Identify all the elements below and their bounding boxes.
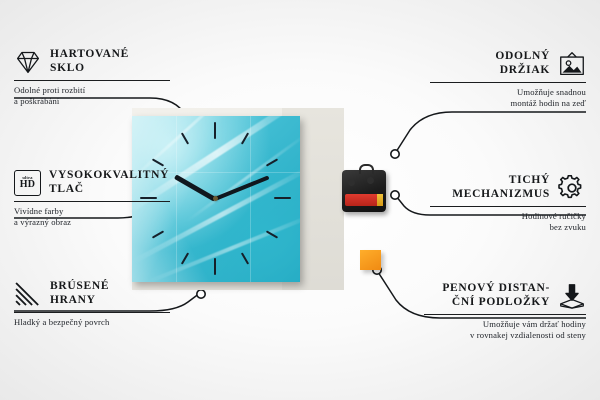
infographic-canvas: HARTOVANÉ SKLO Odolné proti rozbití a po… [0, 0, 600, 400]
feature-title-line2: HRANY [50, 294, 109, 308]
feature-title-line2: SKLO [50, 62, 129, 76]
feature-title-line1: PENOVÝ DISTAN- [442, 282, 550, 296]
feature-title-line1: VYSOKOKVALITNÝ [49, 169, 169, 183]
mechanism-hook [359, 164, 374, 174]
glass-streak [148, 212, 300, 282]
feature-desc-line2: a výrazný obraz [14, 217, 170, 228]
clock-tick [214, 122, 216, 139]
feature-title-line2: TLAČ [49, 183, 169, 197]
feature-title-line2: MECHANIZMUS [452, 188, 550, 202]
glass-grid-line [176, 116, 177, 282]
clock-tick [274, 197, 291, 199]
feature-title-line1: BRÚSENÉ [50, 280, 109, 294]
feature-divider [424, 314, 586, 315]
feature-desc-line2: bez zvuku [430, 222, 586, 233]
clock-mechanism [342, 170, 386, 212]
connector-node-bottom-left [197, 290, 205, 298]
feature-divider [430, 82, 586, 83]
feature-durable-holder: ODOLNÝ DRŽIAK Umožňuje snadnou montáž ho… [430, 50, 586, 109]
feature-desc-line1: Odolné proti rozbití [14, 85, 170, 96]
feature-desc-line2: v rovnakej vzdialenosti od steny [424, 330, 586, 341]
clock-center-pin [213, 196, 218, 201]
feature-divider [14, 201, 170, 202]
diamond-icon [14, 49, 42, 75]
feature-title-line2: ČNÍ PODLOŽKY [442, 296, 550, 310]
press-down-pad-icon [558, 283, 586, 309]
feature-divider [430, 206, 586, 207]
feature-desc-line2: a poškrábání [14, 96, 170, 107]
glass-grid-line [250, 116, 251, 282]
feature-desc-line1: Hodinové ručičky [430, 211, 586, 222]
picture-hanger-icon [558, 51, 586, 77]
ultra-hd-icon-bottom: HD [20, 180, 35, 190]
feature-polished-edges: BRÚSENÉ HRANY Hladký a bezpečný povrch [14, 280, 170, 328]
feature-title-line2: DRŽIAK [495, 64, 550, 78]
feature-high-quality-print: ultra HD VYSOKOKVALITNÝ TLAČ Vivídne far… [14, 169, 170, 228]
brushed-edges-icon [14, 281, 42, 307]
battery [345, 194, 383, 206]
clock-tick [152, 158, 164, 166]
feature-desc-line1: Vivídne farby [14, 206, 170, 217]
feature-hardened-glass: HARTOVANÉ SKLO Odolné proti rozbití a po… [14, 48, 170, 107]
feature-divider [14, 312, 170, 313]
foam-spacer-pad [360, 250, 381, 270]
feature-title-line1: HARTOVANÉ [50, 48, 129, 62]
clock-tick [181, 132, 189, 144]
gear-icon [558, 175, 586, 201]
clock-tick [152, 230, 164, 238]
connector-top-right [396, 112, 586, 152]
feature-desc-line1: Hladký a bezpečný povrch [14, 317, 170, 328]
clock-tick [214, 258, 216, 275]
feature-title-line1: ODOLNÝ [495, 50, 550, 64]
feature-desc-line1: Umožňuje snadnou [430, 87, 586, 98]
mechanism-detail [367, 177, 374, 184]
clock-tick [241, 252, 249, 264]
mechanism-detail [348, 179, 355, 186]
feature-desc-line1: Umožňuje vám držať hodiny [424, 319, 586, 330]
clock-hand-hour [174, 174, 216, 201]
feature-title-line1: TICHÝ [452, 174, 550, 188]
feature-foam-spacers: PENOVÝ DISTAN- ČNÍ PODLOŽKY Umožňuje vám… [424, 282, 586, 341]
feature-desc-line2: montáž hodin na zeď [430, 98, 586, 109]
connector-node-top-right [391, 150, 399, 158]
feature-divider [14, 80, 170, 81]
ultra-hd-icon: ultra HD [14, 170, 41, 196]
connector-node-mid-right [391, 191, 399, 199]
glass-streak [185, 132, 300, 223]
feature-silent-mechanism: TICHÝ MECHANIZMUS Hodinové ručičky bez z… [430, 174, 586, 233]
